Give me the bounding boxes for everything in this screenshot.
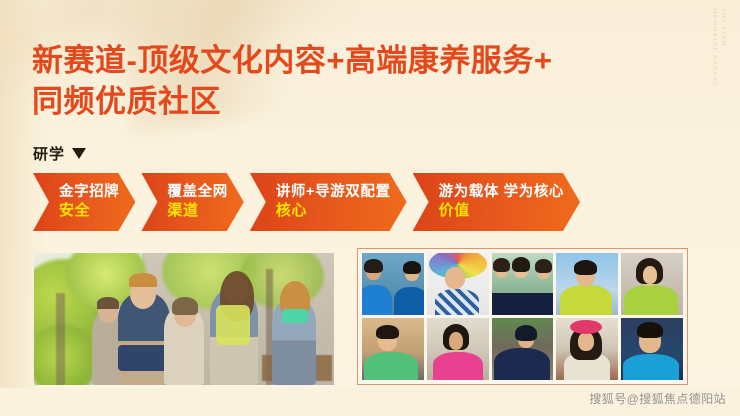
chevron-subtitle: 核心 bbox=[276, 202, 391, 221]
grid-photo-5 bbox=[621, 253, 683, 315]
photo-grid bbox=[357, 248, 688, 385]
corner-decoration-text: MEMORIAL ANNUAL THE 13TH bbox=[711, 8, 726, 88]
grid-photo-9 bbox=[556, 318, 618, 380]
grid-photo-6 bbox=[362, 318, 424, 380]
chevron-title: 讲师+导游双配置 bbox=[276, 183, 391, 201]
chevron-list: 金字招牌 安全 覆盖全网 渠道 讲师+导游双配置 核心 游为载体 学为核心 价值 bbox=[33, 173, 586, 231]
corner-text-line-1: THE 13TH bbox=[720, 8, 726, 88]
chevron-item-4: 游为载体 学为核心 价值 bbox=[413, 173, 580, 231]
grid-photo-8 bbox=[492, 318, 554, 380]
section-tag-label: 研学 bbox=[33, 143, 65, 164]
chevron-title: 金字招牌 bbox=[59, 183, 119, 201]
chevron-item-1: 金字招牌 安全 bbox=[33, 173, 135, 231]
chevron-title: 游为载体 学为核心 bbox=[439, 183, 564, 201]
chevron-subtitle: 渠道 bbox=[167, 202, 227, 221]
page-title: 新赛道-顶级文化内容+高端康养服务+ 同频优质社区 bbox=[32, 40, 672, 122]
chevron-item-3: 讲师+导游双配置 核心 bbox=[250, 173, 407, 231]
grid-photo-10 bbox=[621, 318, 683, 380]
hero-photo bbox=[34, 253, 334, 385]
caret-down-icon bbox=[72, 148, 86, 159]
watermark: 搜狐号@搜狐焦点德阳站 bbox=[589, 390, 726, 407]
chevron-item-2: 覆盖全网 渠道 bbox=[141, 173, 243, 231]
section-tag: 研学 bbox=[33, 143, 86, 164]
chevron-subtitle: 安全 bbox=[59, 202, 119, 221]
grid-photo-7 bbox=[427, 318, 489, 380]
grid-photo-4 bbox=[556, 253, 618, 315]
corner-text-line-2: MEMORIAL ANNUAL bbox=[711, 8, 717, 88]
grid-photo-1 bbox=[362, 253, 424, 315]
grid-photo-3 bbox=[492, 253, 554, 315]
chevron-subtitle: 价值 bbox=[439, 202, 564, 221]
grid-photo-2 bbox=[427, 253, 489, 315]
presentation-slide: MEMORIAL ANNUAL THE 13TH 新赛道-顶级文化内容+高端康养… bbox=[0, 0, 740, 416]
chevron-title: 覆盖全网 bbox=[167, 183, 227, 201]
